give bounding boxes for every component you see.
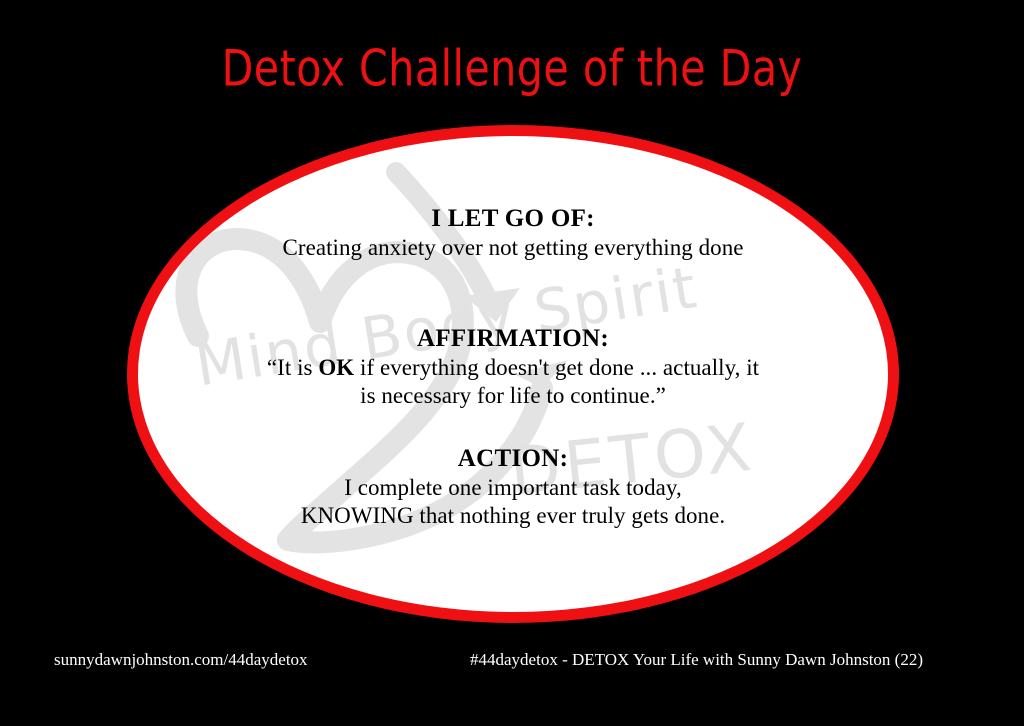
section-heading-action: ACTION: — [138, 444, 888, 474]
section-action: ACTION: I complete one important task to… — [138, 444, 888, 530]
page-title: Detox Challenge of the Day — [10, 44, 1014, 94]
detox-challenge-card: Detox Challenge of the Day — [0, 0, 1024, 726]
footer: sunnydawnjohnston.com/44daydetox #44dayd… — [0, 650, 1024, 680]
ellipse-shape: Mind Body Spirit DETOX I LET GO OF: Crea… — [127, 125, 899, 623]
section-affirmation: AFFIRMATION: “It is OK if everything doe… — [138, 324, 888, 410]
section-line: KNOWING that nothing ever truly gets don… — [138, 502, 888, 530]
section-line: I complete one important task today, — [138, 474, 888, 502]
section-heading-let-go-of: I LET GO OF: — [138, 204, 888, 234]
section-line: “It is OK if everything doesn't get done… — [138, 354, 888, 382]
quote-post: if everything doesn't get done ... actua… — [354, 355, 759, 380]
content-ellipse: Mind Body Spirit DETOX I LET GO OF: Crea… — [127, 125, 899, 623]
quote-emphasis: OK — [318, 355, 354, 380]
ellipse-content: I LET GO OF: Creating anxiety over not g… — [138, 136, 888, 612]
section-line: is necessary for life to continue.” — [138, 382, 888, 410]
footer-website-url: sunnydawnjohnston.com/44daydetox — [54, 650, 308, 670]
section-heading-affirmation: AFFIRMATION: — [138, 324, 888, 354]
footer-series-label: #44daydetox - DETOX Your Life with Sunny… — [470, 650, 923, 670]
section-line: Creating anxiety over not getting everyt… — [138, 234, 888, 262]
section-let-go-of: I LET GO OF: Creating anxiety over not g… — [138, 204, 888, 262]
quote-pre: “It is — [267, 355, 318, 380]
